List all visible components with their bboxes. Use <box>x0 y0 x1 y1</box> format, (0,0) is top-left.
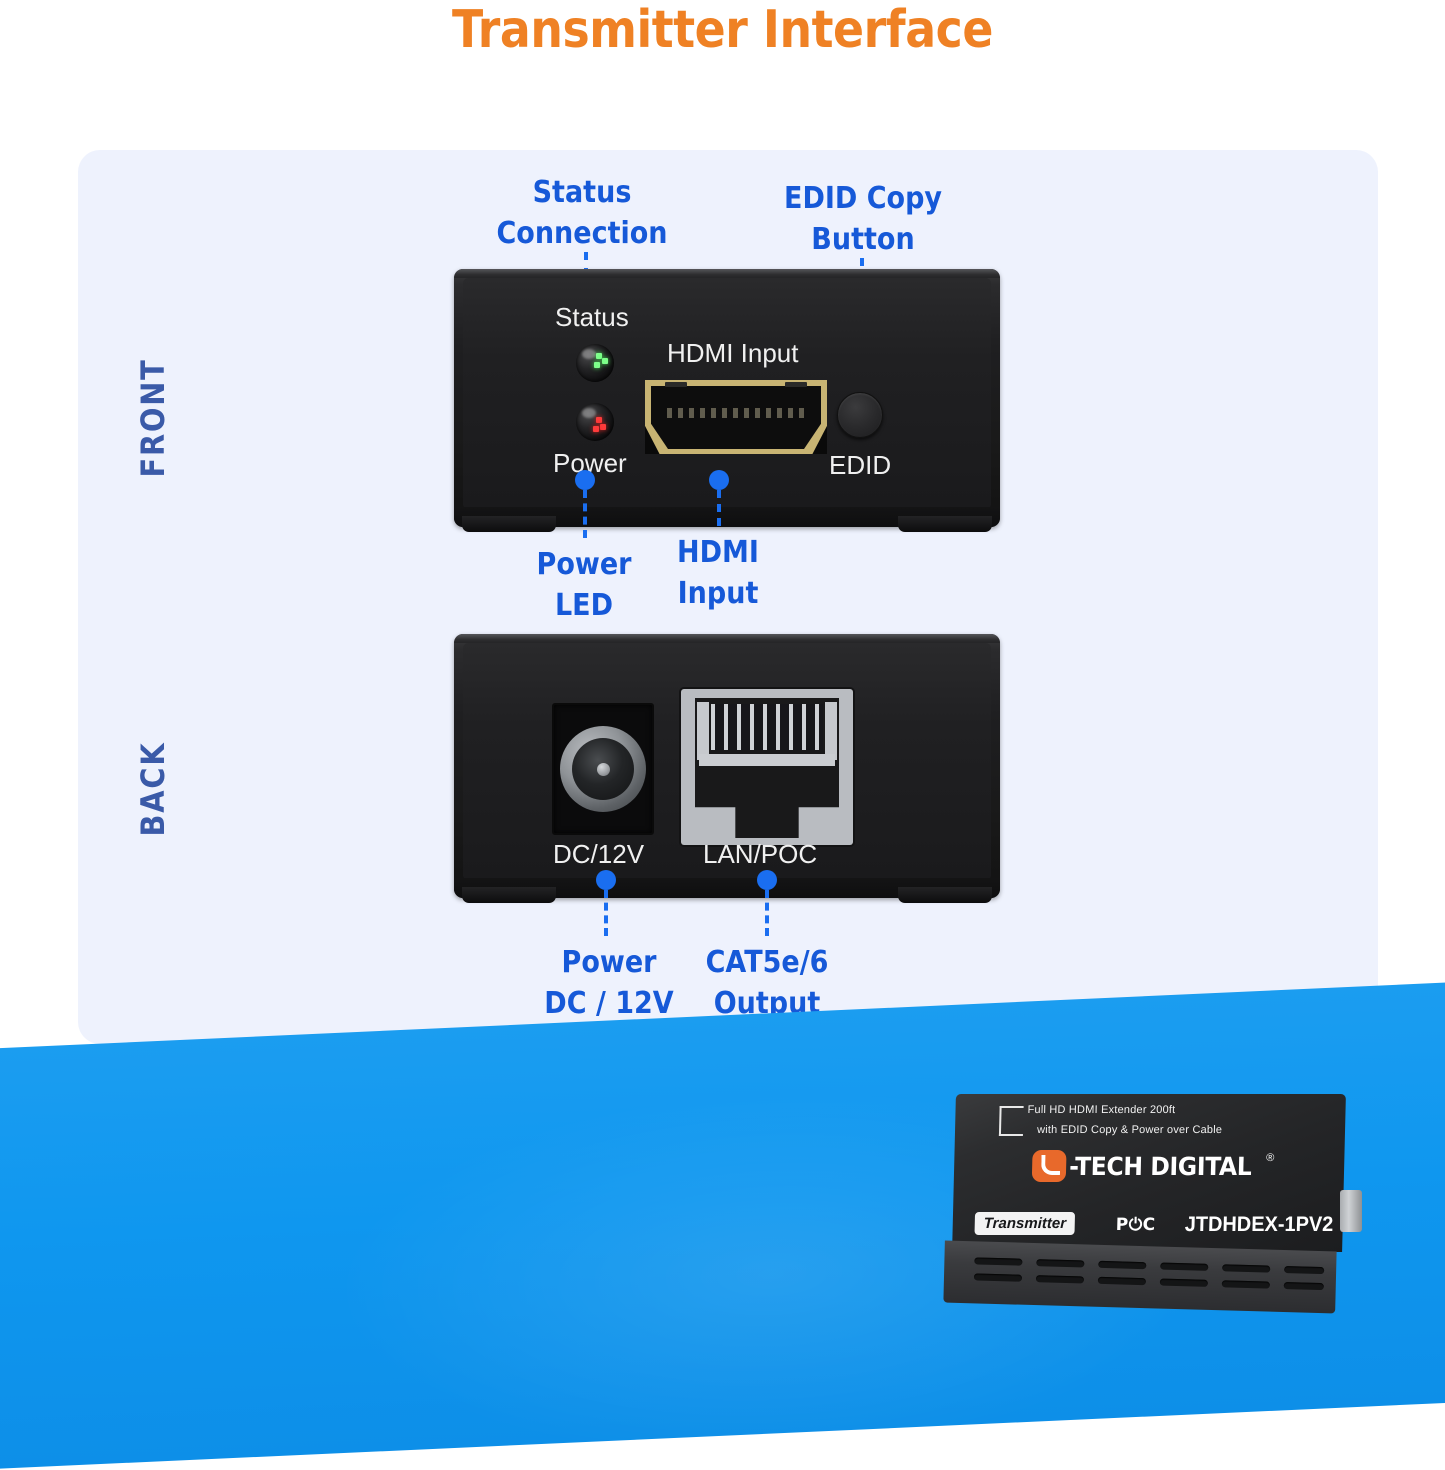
label-status: Status <box>555 302 629 333</box>
vent-slot <box>1160 1279 1208 1287</box>
hdmi-tab-left <box>665 382 687 387</box>
vent-slot <box>974 1257 1022 1265</box>
product-side-connector <box>1340 1190 1362 1232</box>
back-device-chassis: DC/12V LAN/POC <box>454 634 1000 898</box>
edid-button[interactable] <box>837 392 883 438</box>
dc-jack-pin <box>597 763 610 776</box>
rj45-contacts <box>711 704 823 750</box>
transmitter-badge: Transmitter <box>974 1212 1075 1235</box>
side-label-front: FRONT <box>134 361 172 478</box>
product-top-face: Full HD HDMI Extender 200ft with EDID Co… <box>952 1094 1346 1252</box>
leader-dot-power-dc <box>596 870 616 890</box>
callout-status-connection: Status Connection <box>478 172 687 255</box>
vent-slot <box>1098 1261 1146 1269</box>
label-lan: LAN/POC <box>703 839 817 870</box>
vent-slot <box>974 1273 1022 1281</box>
model-number: JTDHDEX-1PV2 <box>1184 1213 1333 1237</box>
leader-cat5e-output <box>765 890 769 936</box>
rj45-latch-bar <box>699 754 835 766</box>
side-label-back: BACK <box>134 731 172 848</box>
page-title: Transmitter Interface <box>87 0 1359 60</box>
poc-icon: P⏻C <box>1115 1215 1155 1235</box>
vent-slot <box>1098 1277 1146 1285</box>
vent-slot <box>1036 1275 1084 1283</box>
label-edid: EDID <box>829 450 891 481</box>
vent-slot <box>1036 1259 1084 1267</box>
callout-hdmi-input: HDMI Input <box>628 532 808 615</box>
label-hdmi-input: HDMI Input <box>667 338 799 369</box>
leader-power-led <box>583 490 587 538</box>
brand-logo: -TECH DIGITAL ® <box>1032 1150 1275 1182</box>
rj45-lip-right <box>825 702 837 760</box>
vent-slot <box>1284 1266 1324 1274</box>
status-led-glints <box>576 344 614 382</box>
status-led <box>576 344 614 382</box>
dc-power-jack[interactable] <box>552 703 654 835</box>
product-tagline-line2: with EDID Copy & Power over Cable <box>1037 1124 1222 1136</box>
vent-slot <box>1222 1264 1270 1272</box>
vent-slot <box>1222 1280 1270 1288</box>
registered-mark: ® <box>1266 1152 1274 1164</box>
leader-dot-hdmi-input <box>709 470 729 490</box>
front-device-foot-right <box>898 516 992 532</box>
power-led <box>576 403 614 441</box>
back-device-foot-left <box>462 887 556 903</box>
rj45-cavity <box>695 698 839 838</box>
back-device-foot-right <box>898 887 992 903</box>
hdmi-tab-right <box>785 382 807 387</box>
bracket-line-icon <box>999 1106 1024 1136</box>
leader-dot-power-led <box>575 470 595 490</box>
front-device-bevel <box>454 269 1000 278</box>
vent-slot <box>1160 1263 1208 1271</box>
leader-hdmi-input <box>717 490 721 526</box>
product-tagline-line1: Full HD HDMI Extender 200ft <box>1027 1104 1175 1116</box>
label-dc: DC/12V <box>553 839 644 870</box>
front-device-chassis: Status Power HDMI Input EDID <box>454 269 1000 527</box>
callout-edid-copy-button: EDID Copy Button <box>761 178 964 261</box>
leader-power-dc <box>604 890 608 936</box>
power-led-glints <box>576 403 614 441</box>
hdmi-pins <box>667 408 805 418</box>
product-photo: Full HD HDMI Extender 200ft with EDID Co… <box>944 1094 1354 1309</box>
vent-slot <box>1284 1282 1324 1290</box>
j-swoosh-icon <box>1032 1150 1067 1182</box>
leader-dot-cat5e-output <box>757 870 777 890</box>
brand-name: -TECH DIGITAL <box>1069 1152 1252 1181</box>
back-device-bevel <box>454 634 1000 643</box>
rj45-lip-left <box>697 702 709 760</box>
hdmi-input-port[interactable] <box>645 380 827 454</box>
lan-poc-port[interactable] <box>681 689 853 845</box>
product-front-face <box>943 1241 1336 1314</box>
back-device-face: DC/12V LAN/POC <box>463 643 991 880</box>
front-device-foot-left <box>462 516 556 532</box>
